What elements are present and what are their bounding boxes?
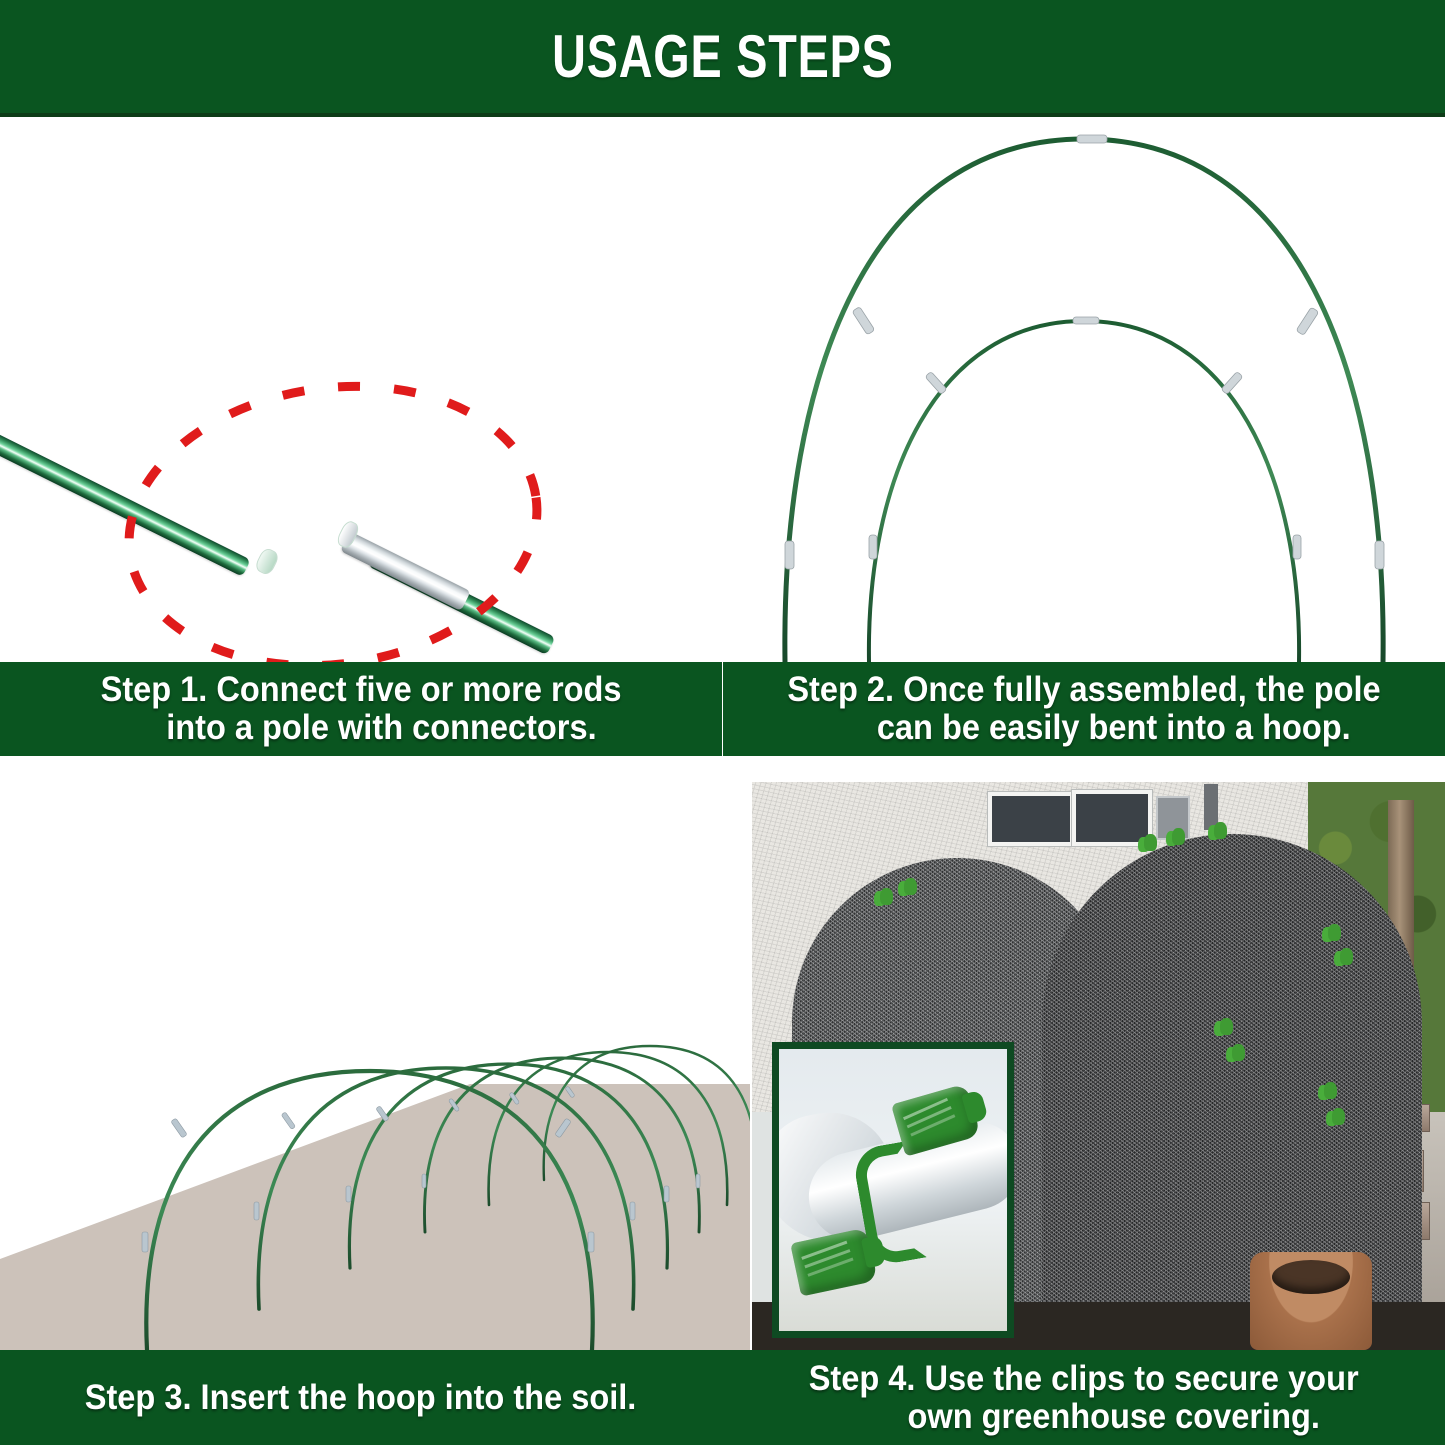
clip-closeup-inset (772, 1042, 1014, 1338)
outer-hoop-connector-lower-left (785, 541, 794, 569)
green-clip-on-net-2 (904, 878, 917, 895)
hoop-2-connector-upper-left (281, 1112, 295, 1130)
inner-hoop-connector-left (925, 371, 947, 394)
step-2-caption-line-2: can be easily bent into a hoop. (877, 709, 1351, 747)
step-3-caption: Step 3. Insert the hoop into the soil. (0, 1350, 722, 1445)
step-1-caption: Step 1. Connect five or more rods into a… (0, 662, 722, 756)
rod-and-connector-illustration (0, 117, 722, 662)
inner-hoop-connector-lower-left (869, 535, 877, 559)
outer-hoop-connector-upper-right (1296, 307, 1319, 335)
hoop-2-connector-right (630, 1202, 635, 1220)
inner-hoop-connector-right (1221, 371, 1243, 394)
outer-hoop-connector-upper-left (852, 307, 875, 335)
step-3-caption-line-1: Step 3. Insert the hoop into the soil. (85, 1379, 637, 1417)
bent-hoop-illustration (723, 117, 1445, 662)
step-4-caption-line-2: own greenhouse covering. (908, 1398, 1320, 1436)
outer-hoop-connector-lower-right (1375, 541, 1384, 569)
step-3-illustration-panel (0, 762, 750, 1350)
hoop-arches-svg (723, 117, 1445, 662)
terracotta-pot (1250, 1252, 1372, 1350)
green-clip-on-net-7 (1340, 948, 1353, 965)
hoop-tunnel-in-soil-illustration (0, 762, 750, 1350)
green-clip-on-net-6 (1328, 924, 1341, 941)
hoop-4-connector-right (696, 1174, 700, 1188)
hoop-4-connector-left (422, 1174, 426, 1188)
step-1-illustration-panel (0, 117, 722, 662)
soil-bed (0, 1084, 750, 1350)
header-banner: USAGE STEPS (0, 0, 1445, 113)
hoop-1-connector-upper-left (171, 1118, 187, 1138)
green-clip-on-net-10 (1324, 1082, 1337, 1099)
house-window-right (1072, 790, 1152, 846)
house-window-left (988, 792, 1074, 846)
green-clip-on-net-4 (1172, 828, 1185, 845)
greenhouse-covering-photo (752, 782, 1445, 1350)
green-clip-on-net-9 (1232, 1044, 1245, 1061)
step-4-photo-panel (752, 782, 1445, 1350)
step-4-caption-line-1: Step 4. Use the clips to secure your (809, 1360, 1359, 1398)
pot-opening (1272, 1260, 1350, 1294)
hoop-3-connector-right (664, 1186, 669, 1202)
green-clip-on-net-11 (1332, 1108, 1345, 1125)
hoop-3-connector-left (346, 1186, 351, 1202)
green-clip-on-net-3 (1144, 834, 1157, 851)
outer-hoop-connector-top (1077, 135, 1107, 143)
hoop-2-connector-left (254, 1202, 259, 1220)
inner-hoop-arch (869, 321, 1299, 662)
step-2-caption: Step 2. Once fully assembled, the pole c… (723, 662, 1445, 756)
inner-hoop-connector-top (1073, 317, 1099, 324)
page-title: USAGE STEPS (552, 22, 893, 91)
green-clip-on-net-5 (1214, 822, 1227, 839)
step-2-caption-line-1: Step 2. Once fully assembled, the pole (787, 671, 1380, 709)
inner-hoop-connector-lower-right (1293, 535, 1301, 559)
green-clip-on-net-1 (880, 888, 893, 905)
tunnel-svg (0, 762, 750, 1350)
red-dashed-ellipse-highlight (118, 379, 548, 662)
infographic-page: USAGE STEPS (0, 0, 1445, 1445)
outer-hoop-arch (785, 139, 1383, 662)
green-clip-lower (790, 1227, 878, 1296)
step-2-illustration-panel (723, 117, 1445, 662)
step-4-caption: Step 4. Use the clips to secure your own… (723, 1350, 1445, 1445)
hoop-1-connector-left (142, 1232, 148, 1252)
hoop-1-connector-right (588, 1232, 594, 1252)
step-1-caption-line-2: into a pole with connectors. (166, 709, 596, 747)
green-clip-on-net-8 (1220, 1018, 1233, 1035)
step-1-caption-line-1: Step 1. Connect five or more rods (101, 671, 622, 709)
